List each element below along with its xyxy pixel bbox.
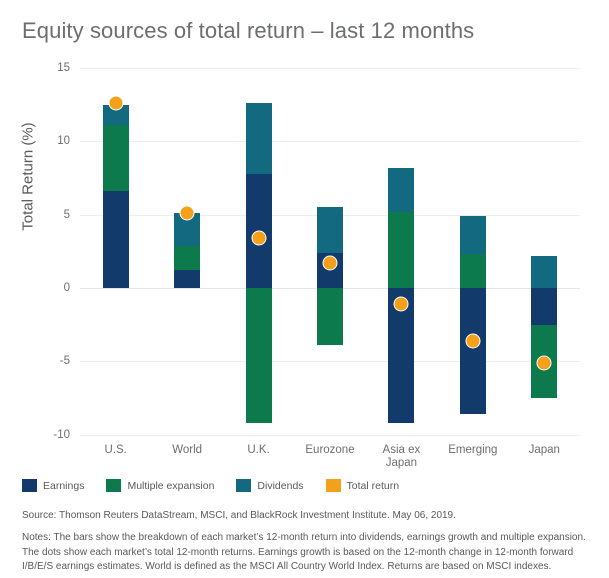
x-axis-label-6: Japan	[509, 444, 580, 457]
bar-segment-dividends	[531, 256, 557, 288]
x-axis-label-4: Asia ex Japan	[366, 444, 437, 470]
bar-u-k[interactable]	[246, 0, 272, 440]
bar-u-s[interactable]	[103, 0, 129, 440]
chart-legend: EarningsMultiple expansionDividendsTotal…	[22, 479, 413, 492]
bar-segment-multiple-expansion	[246, 288, 272, 423]
y-tick-label-0: 15	[26, 62, 70, 74]
bar-eurozone[interactable]	[317, 0, 343, 440]
y-axis-ticks: 151050-5-10	[26, 0, 70, 470]
notes-text: Notes: The bars show the breakdown of ea…	[22, 531, 600, 575]
legend-swatch-icon	[106, 479, 121, 492]
bar-japan[interactable]	[531, 0, 557, 440]
legend-label: Earnings	[43, 480, 84, 492]
total-return-dot-6[interactable]	[537, 355, 552, 370]
total-return-dot-3[interactable]	[323, 256, 338, 271]
bar-segment-earnings	[103, 191, 129, 288]
bar-segment-multiple-expansion	[103, 125, 129, 191]
y-tick-label-2: 5	[26, 209, 70, 221]
legend-swatch-icon	[326, 479, 341, 492]
bar-segment-multiple-expansion	[317, 288, 343, 345]
bar-segment-multiple-expansion	[460, 254, 486, 288]
legend-item-dividends[interactable]: Dividends	[236, 479, 303, 492]
bar-segment-dividends	[317, 207, 343, 252]
source-text: Source: Thomson Reuters DataStream, MSCI…	[22, 509, 597, 523]
legend-item-total-return[interactable]: Total return	[326, 479, 400, 492]
total-return-dot-2[interactable]	[251, 231, 266, 246]
legend-swatch-icon	[22, 479, 37, 492]
bar-segment-earnings	[531, 288, 557, 325]
bar-asia-ex-japan[interactable]	[388, 0, 414, 440]
legend-swatch-icon	[236, 479, 251, 492]
bar-segment-dividends	[388, 168, 414, 212]
y-tick-label-5: -10	[26, 429, 70, 441]
legend-item-multiple-expansion[interactable]: Multiple expansion	[106, 479, 214, 492]
total-return-dot-1[interactable]	[180, 206, 195, 221]
legend-label: Total return	[347, 480, 400, 492]
bar-segment-multiple-expansion	[174, 246, 200, 270]
legend-label: Multiple expansion	[127, 480, 214, 492]
legend-label: Dividends	[257, 480, 303, 492]
y-tick-label-3: 0	[26, 282, 70, 294]
total-return-dot-0[interactable]	[108, 96, 123, 111]
bar-segment-multiple-expansion	[388, 212, 414, 288]
x-axis-label-5: Emerging	[437, 444, 508, 457]
bar-emerging[interactable]	[460, 0, 486, 440]
chart-plot-area: Total Return (%) 151050-5-10 U.S.WorldU.…	[0, 0, 609, 470]
total-return-dot-5[interactable]	[465, 333, 480, 348]
bar-segment-dividends	[246, 103, 272, 173]
x-axis-label-1: World	[151, 444, 222, 457]
x-axis-label-2: U.K.	[223, 444, 294, 457]
bar-segment-dividends	[460, 216, 486, 254]
y-tick-label-4: -5	[26, 355, 70, 367]
legend-item-earnings[interactable]: Earnings	[22, 479, 84, 492]
x-axis-label-3: Eurozone	[294, 444, 365, 457]
y-tick-label-1: 10	[26, 135, 70, 147]
x-axis-label-0: U.S.	[80, 444, 151, 457]
bar-segment-earnings	[460, 288, 486, 414]
bar-segment-earnings	[174, 270, 200, 288]
total-return-dot-4[interactable]	[394, 297, 409, 312]
